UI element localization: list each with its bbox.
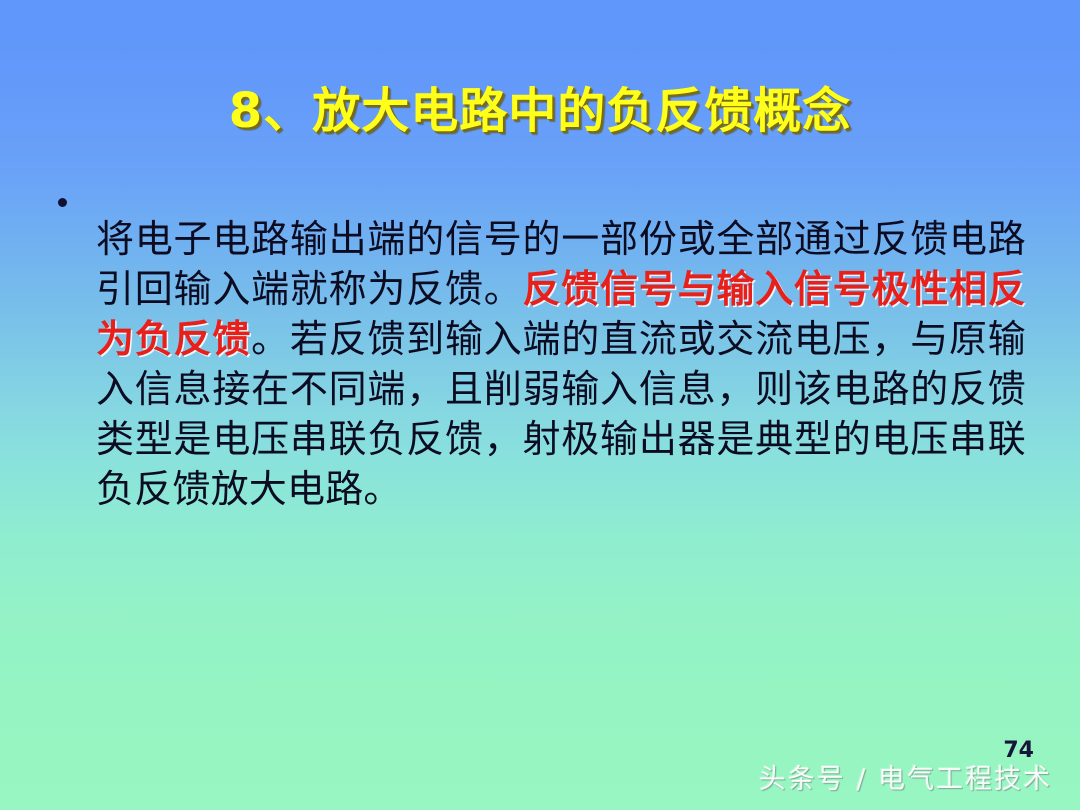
slide-title-container: 8、放大电路中的负反馈概念 bbox=[0, 54, 1080, 169]
slide-canvas: 8、放大电路中的负反馈概念 将电子电路输出端的信号的一部份或全部通过反馈电路引回… bbox=[0, 0, 1080, 810]
body-content-block: 将电子电路输出端的信号的一部份或全部通过反馈电路引回输入端就称为反馈。反馈信号与… bbox=[58, 176, 1026, 552]
body-paragraph: 将电子电路输出端的信号的一部份或全部通过反馈电路引回输入端就称为反馈。反馈信号与… bbox=[96, 214, 1026, 514]
bullet-icon bbox=[58, 198, 67, 207]
page-title: 8、放大电路中的负反馈概念 bbox=[229, 86, 851, 136]
page-number: 74 bbox=[1003, 740, 1034, 762]
watermark-label: 头条号 / 电气工程技术 bbox=[759, 766, 1052, 793]
